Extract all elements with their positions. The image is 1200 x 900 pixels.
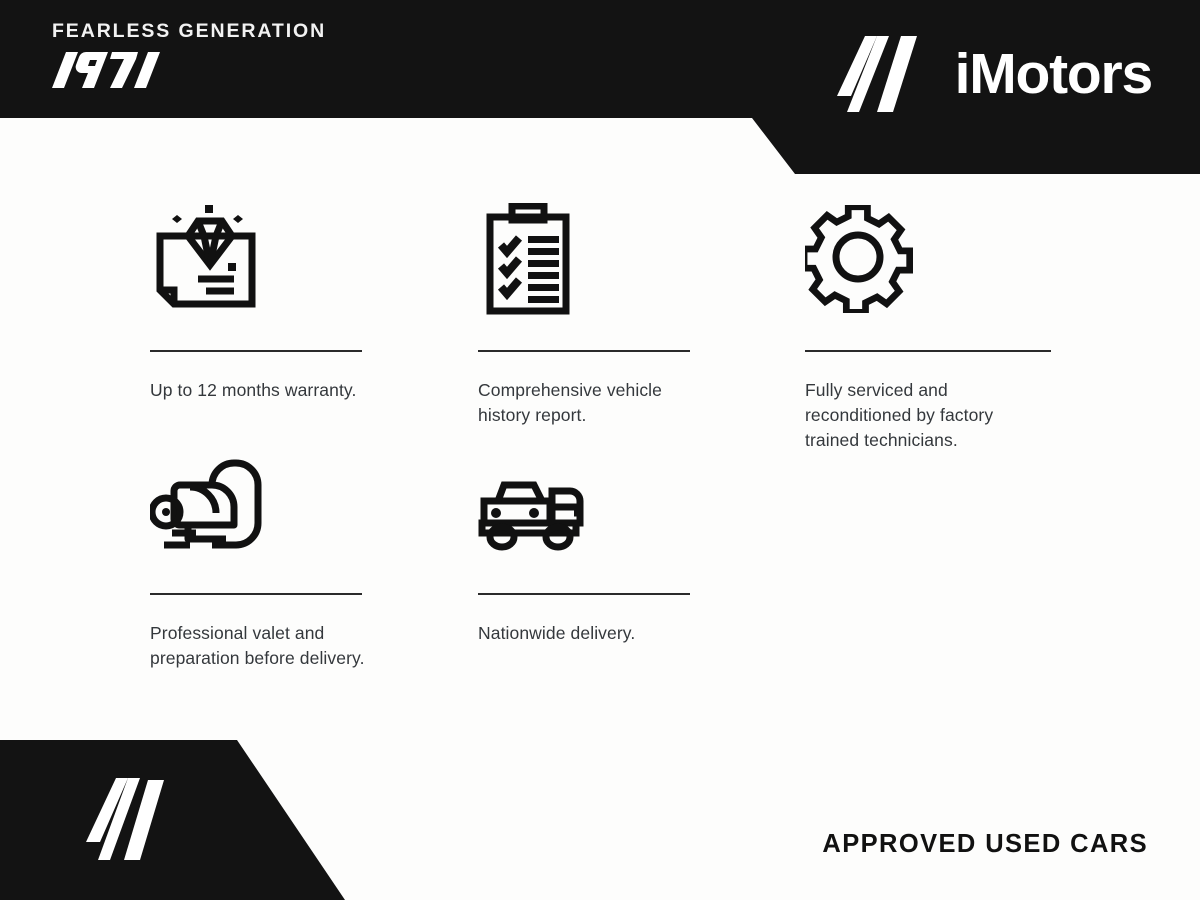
feature-text: Comprehensive vehicle history report.	[478, 378, 713, 428]
imotors-chevron-icon	[837, 34, 929, 114]
header-left-lockup: FEARLESS GENERATION	[52, 22, 326, 92]
feature-divider	[805, 350, 1051, 352]
feature-card-delivery: Nationwide delivery.	[478, 453, 728, 646]
feature-card-serviced: Fully serviced and reconditioned by fact…	[805, 200, 1051, 453]
gear-icon	[805, 200, 1051, 318]
feature-divider	[478, 350, 690, 352]
feature-divider	[150, 350, 362, 352]
vacuum-cleaner-icon	[150, 453, 400, 565]
poster-canvas: FEARLESS GENERATION	[0, 0, 1200, 900]
feature-card-warranty: Up to 12 months warranty.	[150, 200, 400, 403]
approved-used-cars-tagline: APPROVED USED CARS	[822, 830, 1148, 859]
feature-text: Professional valet and preparation befor…	[150, 621, 385, 671]
feature-divider	[150, 593, 362, 595]
feature-text: Fully serviced and reconditioned by fact…	[805, 378, 1040, 453]
fearless-generation-tagline: FEARLESS GENERATION	[52, 22, 326, 42]
feature-card-valet: Professional valet and preparation befor…	[150, 453, 400, 671]
brand-name: iMotors	[955, 46, 1152, 103]
warranty-certificate-icon	[150, 200, 400, 318]
feature-divider	[478, 593, 690, 595]
year-1971-logotype	[52, 48, 326, 92]
clipboard-checklist-icon	[478, 200, 728, 318]
feature-card-history-report: Comprehensive vehicle history report.	[478, 200, 728, 428]
footer-band	[0, 740, 1200, 900]
brand-lockup: iMotors	[837, 34, 1152, 114]
footer-imotors-chevron-icon	[86, 776, 178, 862]
feature-text: Up to 12 months warranty.	[150, 378, 385, 403]
feature-text: Nationwide delivery.	[478, 621, 713, 646]
car-transporter-icon	[478, 453, 728, 565]
